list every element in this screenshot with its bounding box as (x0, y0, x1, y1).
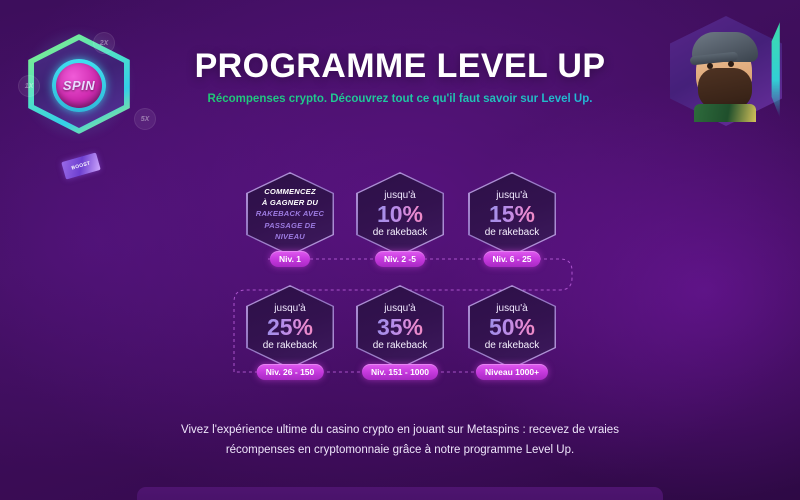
footer-description: Vivez l'expérience ultime du casino cryp… (150, 420, 650, 460)
tier-card-2[interactable]: jusqu'à 10% de rakeback (356, 172, 444, 256)
tier-bottom-label: de rakeback (373, 340, 427, 351)
tier-top-label: jusqu'à (496, 190, 527, 201)
tier-card-body: jusqu'à 10% de rakeback (358, 174, 443, 255)
tier-bottom-label: de rakeback (373, 227, 427, 238)
tier-card-body: jusqu'à 35% de rakeback (358, 287, 443, 368)
tier-top-label: jusqu'à (496, 303, 527, 314)
tier-percent: 35% (377, 315, 423, 339)
tier-intro-line-2: À GAGNER DU (262, 197, 318, 208)
tier-top-label: jusqu'à (384, 190, 415, 201)
tier-card-body: COMMENCEZ À GAGNER DU RAKEBACK AVEC PASS… (248, 174, 333, 255)
tier-card-body: jusqu'à 15% de rakeback (470, 174, 555, 255)
page-background: SPIN 1X 2X 5X BOOST PROGRAMME LEVEL UP R… (0, 0, 800, 500)
tier-card-4[interactable]: jusqu'à 25% de rakeback (246, 285, 334, 369)
tier-bottom-label: de rakeback (485, 340, 539, 351)
tier-pill-6[interactable]: Niveau 1000+ (476, 364, 548, 380)
tier-card-body: jusqu'à 50% de rakeback (470, 287, 555, 368)
tier-percent: 50% (489, 315, 535, 339)
tier-intro-line-4: PASSAGE DE (264, 220, 315, 231)
tier-intro-line-3: RAKEBACK AVEC (256, 208, 324, 219)
tier-pill-1[interactable]: Niv. 1 (270, 251, 310, 267)
tier-pill-5[interactable]: Niv. 151 - 1000 (362, 364, 438, 380)
tier-intro-line-1: COMMENCEZ (264, 186, 316, 197)
tier-intro-line-5: NIVEAU (275, 231, 305, 242)
bottom-panel (137, 487, 663, 500)
tier-card-body: jusqu'à 25% de rakeback (248, 287, 333, 368)
tier-bottom-label: de rakeback (263, 340, 317, 351)
tier-pill-3[interactable]: Niv. 6 - 25 (483, 251, 540, 267)
tier-card-6[interactable]: jusqu'à 50% de rakeback (468, 285, 556, 369)
tier-percent: 25% (267, 315, 313, 339)
tier-card-5[interactable]: jusqu'à 35% de rakeback (356, 285, 444, 369)
tier-top-label: jusqu'à (384, 303, 415, 314)
tier-percent: 15% (489, 202, 535, 226)
tier-pill-4[interactable]: Niv. 26 - 150 (257, 364, 324, 380)
tier-top-label: jusqu'à (274, 303, 305, 314)
tier-card-1[interactable]: COMMENCEZ À GAGNER DU RAKEBACK AVEC PASS… (246, 172, 334, 256)
tier-card-3[interactable]: jusqu'à 15% de rakeback (468, 172, 556, 256)
tier-bottom-label: de rakeback (485, 227, 539, 238)
tier-percent: 10% (377, 202, 423, 226)
tier-pill-2[interactable]: Niv. 2 -5 (375, 251, 425, 267)
